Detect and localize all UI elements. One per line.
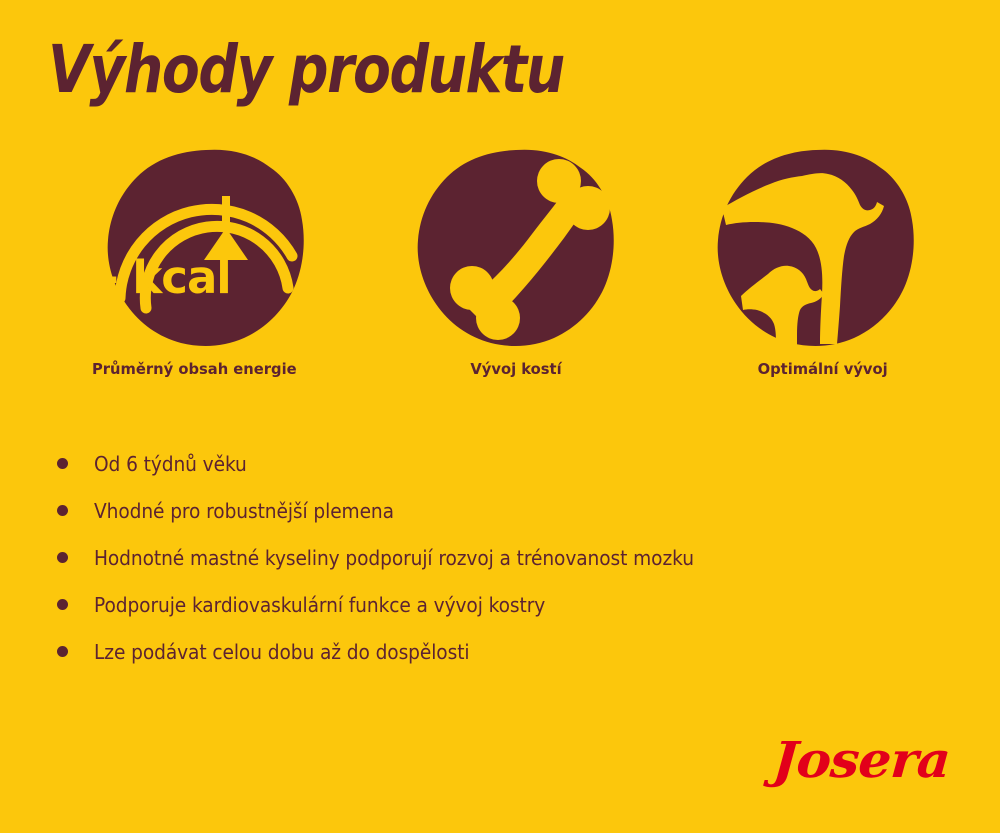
feature-label-development: Optimální vývoj [674, 360, 959, 378]
bullet-dot-icon [57, 599, 68, 610]
bullet-dot-icon [57, 458, 68, 469]
list-item: Od 6 týdnů věku [52, 440, 952, 487]
product-benefits-panel: Výhody produktu [0, 0, 1000, 833]
list-item-label: Hodnotné mastné kyseliny podporují rozvo… [94, 546, 694, 570]
list-item-label: Podporuje kardiovaskulární funkce a vývo… [94, 593, 545, 617]
calorie-gauge-icon [106, 148, 306, 348]
bullet-dot-icon [57, 552, 68, 563]
list-item-label: Lze podávat celou dobu až do dospělosti [94, 640, 469, 664]
list-item-label: Od 6 týdnů věku [94, 452, 247, 476]
feature-item-energy: - kcal Průměrný obsah energie [56, 148, 356, 398]
benefits-list: Od 6 týdnů věku Vhodné pro robustnější p… [52, 440, 952, 675]
feature-label-energy: Průměrný obsah energie [64, 360, 349, 378]
page-title: Výhody produktu [48, 36, 564, 105]
list-item: Podporuje kardiovaskulární funkce a vývo… [52, 581, 952, 628]
list-item: Lze podávat celou dobu až do dospělosti [52, 628, 952, 675]
feature-item-bones: Vývoj kostí [366, 148, 666, 398]
bone-circle-icon [416, 148, 616, 348]
bullet-dot-icon [57, 505, 68, 516]
list-item: Hodnotné mastné kyseliny podporují rozvo… [52, 534, 952, 581]
list-item-label: Vhodné pro robustnější plemena [94, 499, 394, 523]
calorie-icon-text: - kcal [100, 251, 231, 304]
feature-label-bones: Vývoj kostí [374, 360, 659, 378]
feature-icon-row: - kcal Průměrný obsah energie [0, 148, 1000, 398]
list-item: Vhodné pro robustnější plemena [52, 487, 952, 534]
bullet-dot-icon [57, 646, 68, 657]
feature-item-development: Optimální vývoj [666, 148, 966, 398]
josera-logo: Josera [771, 732, 952, 790]
dog-and-puppy-icon [716, 148, 916, 348]
